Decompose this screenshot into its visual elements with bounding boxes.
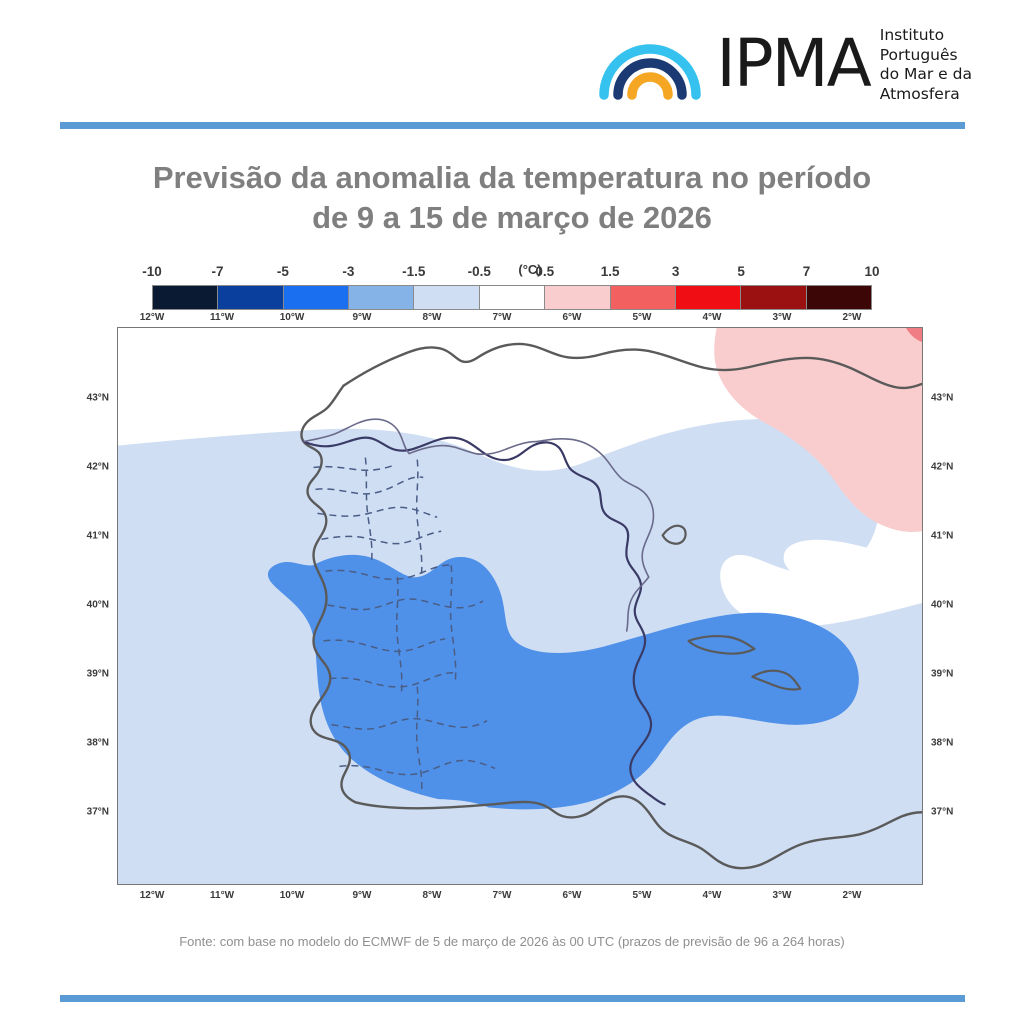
page-header: IPMA Instituto Português do Mar e da Atm…: [0, 0, 1024, 122]
lon-label-bottom-6: 6°W: [563, 890, 582, 901]
lat-label-left-3: 40°N: [77, 600, 109, 611]
lat-label-right-5: 38°N: [931, 738, 953, 749]
lon-label-top-8: 4°W: [703, 312, 722, 323]
colorbar-bin-0: [153, 286, 218, 309]
lat-label-right-1: 42°N: [931, 462, 953, 473]
lon-label-top-2: 10°W: [280, 312, 305, 323]
lon-label-top-6: 6°W: [563, 312, 582, 323]
colorbar-bin-10: [807, 286, 871, 309]
tagline-line-1: Instituto: [880, 26, 972, 46]
colorbar-tick-11: 10: [864, 264, 879, 279]
colorbar-tick-2: -5: [277, 264, 289, 279]
colorbar-bin-4: [414, 286, 479, 309]
lat-label-left-0: 43°N: [77, 393, 109, 404]
lat-label-right-4: 39°N: [931, 669, 953, 680]
colorbar-tick-1: -7: [211, 264, 223, 279]
colorbar-tick-labels: -10-7-5-3-1.5-0.50.51.535710: [152, 264, 872, 284]
lat-label-right-6: 37°N: [931, 807, 953, 818]
lon-label-bottom-3: 9°W: [353, 890, 372, 901]
lon-label-top-10: 2°W: [843, 312, 862, 323]
divider-bottom: [60, 995, 965, 1002]
lat-label-left-4: 39°N: [77, 669, 109, 680]
lat-label-left-5: 38°N: [77, 738, 109, 749]
colorbar-bin-9: [741, 286, 806, 309]
lon-label-bottom-9: 3°W: [773, 890, 792, 901]
divider-top: [60, 122, 965, 129]
colorbar-tick-4: -1.5: [402, 264, 425, 279]
lon-label-bottom-2: 10°W: [280, 890, 305, 901]
lon-label-top-4: 8°W: [423, 312, 442, 323]
colorbar-tick-6: 0.5: [535, 264, 554, 279]
anomaly-map: 12°W11°W10°W9°W8°W7°W6°W5°W4°W3°W2°W 12°…: [117, 327, 923, 885]
colorbar-tick-8: 3: [672, 264, 680, 279]
lon-label-top-5: 7°W: [493, 312, 512, 323]
colorbar-bin-2: [284, 286, 349, 309]
lat-label-right-3: 40°N: [931, 600, 953, 611]
logo-wordmark: IPMA: [716, 33, 869, 96]
title-line-2: de 9 a 15 de março de 2026: [0, 198, 1024, 238]
tagline-line-3: do Mar e da: [880, 65, 972, 85]
lon-label-top-3: 9°W: [353, 312, 372, 323]
lon-label-top-7: 5°W: [633, 312, 652, 323]
ipma-logo: IPMA Instituto Português do Mar e da Atm…: [598, 24, 972, 104]
lat-label-left-1: 42°N: [77, 462, 109, 473]
lat-label-left-2: 41°N: [77, 531, 109, 542]
source-note: Fonte: com base no modelo do ECMWF de 5 …: [0, 934, 1024, 949]
tagline-line-4: Atmosfera: [880, 85, 972, 105]
lon-label-top-9: 3°W: [773, 312, 792, 323]
page-title: Previsão da anomalia da temperatura no p…: [0, 158, 1024, 239]
colorbar-tick-9: 5: [737, 264, 745, 279]
colorbar-bin-1: [218, 286, 283, 309]
lat-label-right-2: 41°N: [931, 531, 953, 542]
lon-label-bottom-5: 7°W: [493, 890, 512, 901]
colorbar-tick-0: -10: [142, 264, 162, 279]
colorbar: (°C) -10-7-5-3-1.5-0.50.51.535710: [152, 262, 872, 312]
colorbar-bin-8: [676, 286, 741, 309]
colorbar-tick-10: 7: [803, 264, 811, 279]
lat-label-right-0: 43°N: [931, 393, 953, 404]
map-canvas: [117, 327, 923, 885]
lon-label-bottom-7: 5°W: [633, 890, 652, 901]
colorbar-tick-7: 1.5: [601, 264, 620, 279]
colorbar-bin-6: [545, 286, 610, 309]
lat-label-left-6: 37°N: [77, 807, 109, 818]
rainbow-arc-icon: [598, 27, 706, 101]
colorbar-gradient: [152, 285, 872, 310]
lon-label-bottom-8: 4°W: [703, 890, 722, 901]
lon-label-bottom-0: 12°W: [140, 890, 165, 901]
title-line-1: Previsão da anomalia da temperatura no p…: [0, 158, 1024, 198]
lon-label-bottom-1: 11°W: [210, 890, 234, 901]
tagline-line-2: Português: [880, 46, 972, 66]
lon-label-bottom-4: 8°W: [423, 890, 442, 901]
logo-tagline: Instituto Português do Mar e da Atmosfer…: [880, 24, 972, 104]
colorbar-bin-5: [480, 286, 545, 309]
colorbar-tick-3: -3: [342, 264, 354, 279]
colorbar-bin-3: [349, 286, 414, 309]
lon-label-top-1: 11°W: [210, 312, 234, 323]
lon-label-top-0: 12°W: [140, 312, 165, 323]
colorbar-bin-7: [611, 286, 676, 309]
lon-label-bottom-10: 2°W: [843, 890, 862, 901]
colorbar-tick-5: -0.5: [468, 264, 491, 279]
